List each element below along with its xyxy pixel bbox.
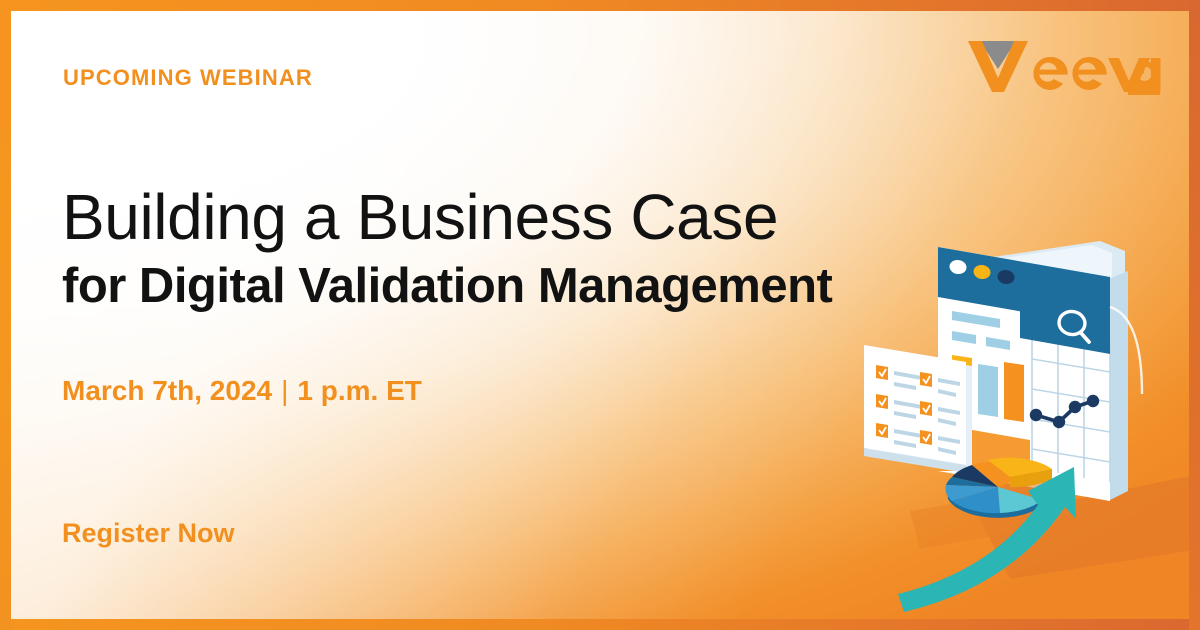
border-right: [1189, 0, 1200, 630]
eyebrow-label: UPCOMING WEBINAR: [63, 65, 313, 91]
headline-line-2: for Digital Validation Management: [62, 262, 832, 311]
checklist-card: [864, 345, 972, 473]
event-datetime: March 7th, 2024|1 p.m. ET: [62, 375, 422, 407]
page-title: Building a Business Case for Digital Val…: [62, 185, 832, 311]
veeva-logo[interactable]: [966, 33, 1162, 100]
event-date: March 7th, 2024: [62, 375, 272, 406]
datetime-separator: |: [272, 375, 297, 406]
border-left: [0, 0, 11, 630]
border-bottom: [0, 619, 1200, 630]
event-time: 1 p.m. ET: [297, 375, 421, 406]
register-now-link[interactable]: Register Now: [62, 518, 235, 549]
isometric-analytics-dashboard-illustration: [860, 219, 1200, 624]
headline-line-1: Building a Business Case: [62, 185, 832, 249]
border-top: [0, 0, 1200, 11]
webinar-banner: UPCOMING WEBINAR Building a Business Cas…: [0, 0, 1200, 630]
